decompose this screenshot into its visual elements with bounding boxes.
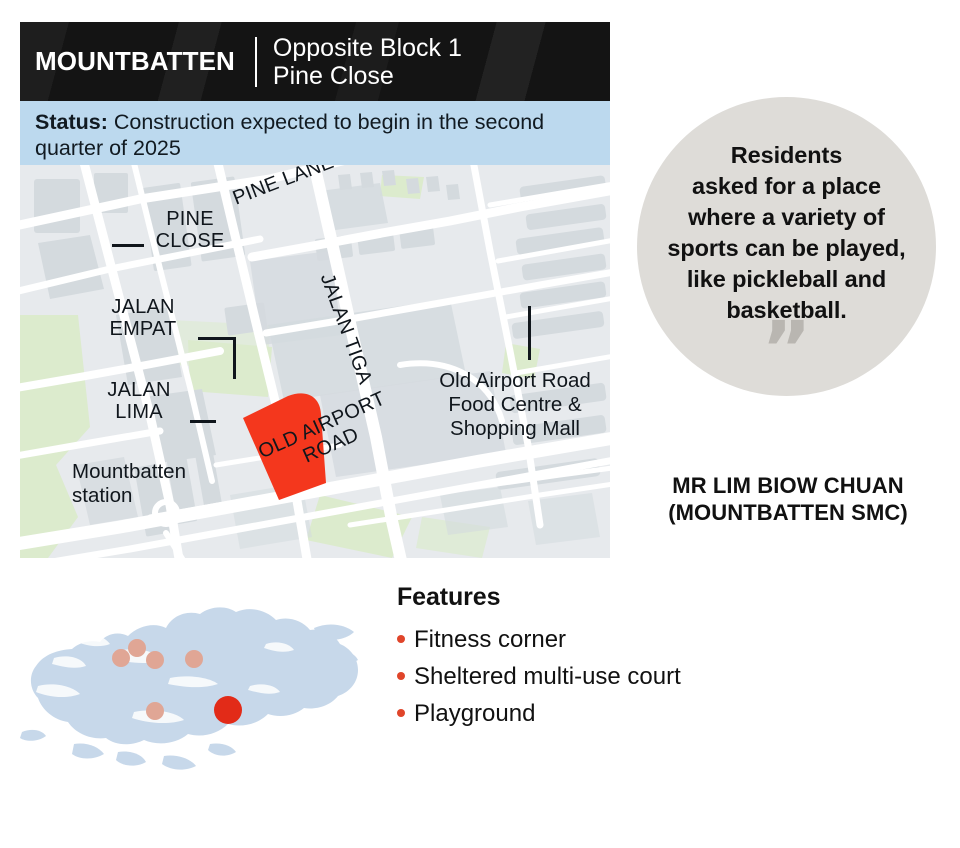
bullet-icon [397,672,405,680]
list-item: Sheltered multi-use court [397,658,817,695]
features-section: Features Fitness corner Sheltered multi-… [397,583,817,733]
leader-line-pine-close [112,244,144,247]
map-label-jalan-lima: JALAN LIMA [88,379,190,424]
header-bar: MOUNTBATTEN Opposite Block 1 Pine Close [20,22,610,101]
quote-text: Residents asked for a place where a vari… [641,140,933,326]
site-marker-inactive-1 [112,649,130,667]
site-marker-inactive-4 [185,650,203,668]
leader-line-jalan-lima [190,420,216,423]
map-label-jalan-empat: JALAN EMPAT [88,296,198,341]
features-title: Features [397,583,817,612]
feature-label: Fitness corner [414,621,566,658]
header-town-name: MOUNTBATTEN [20,46,235,77]
status-value: Construction expected to begin in the se… [35,110,544,160]
list-item: Playground [397,695,817,732]
quote-bubble: Residents asked for a place where a vari… [637,97,936,396]
leader-line-jalan-empat-h [198,337,236,340]
site-marker-inactive-5 [146,702,164,720]
vertical-divider-icon [255,37,257,87]
site-marker-active [214,696,242,724]
map-label-food-centre: Old Airport Road Food Centre & Shopping … [415,369,610,441]
quote-attribution: MR LIM BIOW CHUAN (MOUNTBATTEN SMC) [613,473,960,527]
site-marker-inactive-2 [128,639,146,657]
quotation-mark-icon: ” [762,328,812,370]
status-text: Status: Construction expected to begin i… [35,110,596,162]
location-map[interactable]: PINE CLOSE PINE LANE JALAN EMPAT JALAN L… [20,165,610,558]
leader-line-food-centre [528,306,531,360]
bullet-icon [397,709,405,717]
map-label-mountbatten-station: Mountbatten station [72,460,252,508]
header-location: Opposite Block 1 Pine Close [273,34,462,90]
status-label: Status: [35,110,108,134]
leader-line-jalan-empat-v [233,337,236,379]
feature-label: Playground [414,695,535,732]
feature-label: Sheltered multi-use court [414,658,681,695]
status-strip: Status: Construction expected to begin i… [20,101,610,165]
singapore-locator-map [14,592,364,772]
list-item: Fitness corner [397,621,817,658]
bullet-icon [397,635,405,643]
features-list: Fitness corner Sheltered multi-use court… [397,621,817,733]
site-marker-inactive-3 [146,651,164,669]
